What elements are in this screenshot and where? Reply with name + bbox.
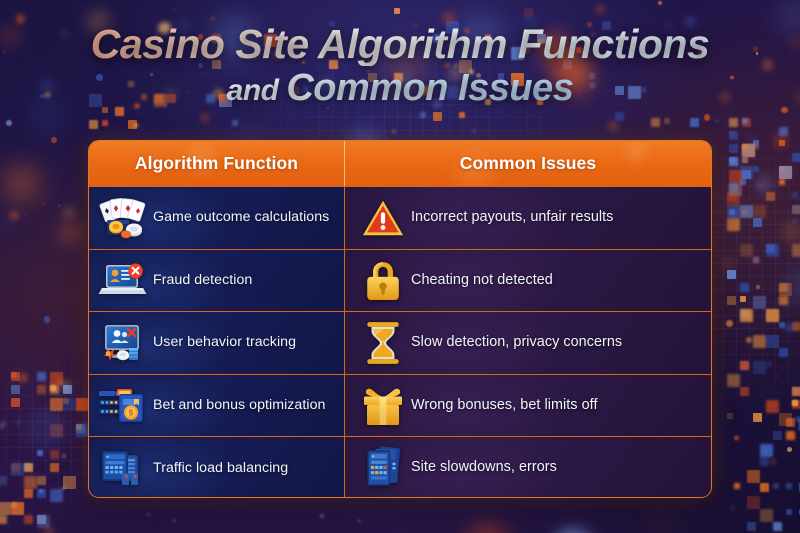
cell-common-issue: Slow detection, privacy concerns [345,312,711,374]
pixel-square [792,322,800,331]
pixel-square [50,489,63,502]
pixel-square [753,413,762,422]
pixel-square [760,483,769,492]
cell-common-issue: Wrong bonuses, bet limits off [345,375,711,437]
pixel-square [792,153,800,162]
pixel-square [779,283,788,292]
pixel-square [740,309,749,318]
pixel-square [786,418,795,427]
pixel-square [37,372,46,381]
pixel-square [63,398,69,404]
bokeh-dot [43,527,54,533]
pixel-square [729,144,738,153]
bokeh-dot [63,225,78,240]
bokeh-dot [6,120,13,127]
pixel-square [742,144,755,157]
bokeh-dot [146,512,151,517]
pixel-square [766,361,772,367]
bokeh-dot [42,202,45,205]
bokeh-dot [653,515,669,531]
pixel-square [50,385,56,391]
bokeh-dot [19,373,28,382]
pixel-square [742,209,748,215]
pixel-square [727,374,740,387]
title-line-1: Casino Site Algorithm Functions [0,24,800,66]
pixel-square [102,120,108,126]
pixel-square [779,296,788,305]
pixel-square [753,296,766,309]
bokeh-dot [787,447,792,452]
pixel-square [11,502,24,515]
pixel-square [740,283,749,292]
infographic-poster: Casino Site Algorithm Functions and Comm… [0,0,800,533]
pixel-square [651,118,660,127]
bokeh-dot [704,114,711,121]
common-issue-label: Cheating not detected [405,272,553,290]
pixel-square [747,470,760,483]
pixel-square [740,244,753,257]
pixel-square [0,476,7,485]
laptop-user-blocked-icon [97,257,149,303]
pixel-square [727,413,733,419]
pixel-square [76,424,85,433]
pixel-square [729,170,742,183]
pixel-square [740,205,753,218]
pixel-square [50,450,59,459]
pixel-square [63,398,76,411]
pixel-square [37,515,46,524]
bokeh-dot [1,421,6,426]
gift-box-icon [361,383,405,429]
pixel-square [729,131,738,140]
bokeh-dot [726,320,733,327]
bokeh-dot [786,225,800,239]
bokeh-dot [730,505,736,511]
pixel-square [792,387,800,396]
pixel-square [727,192,740,205]
bokeh-dot [50,417,64,431]
column-header-algorithm-function: Algorithm Function [89,141,345,186]
pixel-square [740,309,753,322]
comparison-table: Algorithm Function Common Issues Game ou… [88,140,712,498]
pixel-square [394,8,400,14]
bokeh-dot [738,207,741,210]
bokeh-dot [795,416,800,422]
pixel-square [433,112,442,121]
pixel-square [792,192,798,198]
poster-title: Casino Site Algorithm Functions and Comm… [0,24,800,108]
pixel-square [766,192,775,201]
pixel-square [24,463,33,472]
padlock-icon [361,257,405,303]
pixel-square [779,166,792,179]
bokeh-dot [596,5,605,14]
table-row: Game outcome calculations Incorrect payo… [89,186,711,249]
pixel-square [742,144,755,157]
table-row: Traffic load balancing Site slowdowns, e… [89,436,711,498]
pixel-square [459,112,465,118]
pixel-square [786,483,792,489]
pixel-square [740,361,749,370]
pixel-square [729,183,742,196]
bokeh-dot [211,16,216,21]
pixel-square [63,476,76,489]
pixel-square [76,424,85,433]
pixel-square [727,218,740,231]
pixel-square [420,112,426,118]
bokeh-dot [61,381,69,389]
pixel-square [779,322,785,328]
pixel-square [729,157,738,166]
pixel-square [734,483,740,489]
bokeh-dot [11,212,18,219]
pixel-square [729,131,735,137]
bokeh-dot [776,375,779,378]
pixel-square [753,140,759,146]
pixel-square [37,476,46,485]
pixel-square [753,205,766,218]
cell-common-issue: Site slowdowns, errors [345,437,711,498]
bokeh-dot [658,1,662,5]
pixel-square [792,205,800,214]
table-header-row: Algorithm Function Common Issues [89,141,711,186]
pixel-square [792,400,798,406]
pixel-square [786,431,795,440]
pixel-square [11,502,17,508]
pixel-square [747,496,760,509]
pixel-square [115,107,124,116]
pixel-square [747,522,756,531]
pixel-square [766,244,775,253]
pixel-square [11,463,20,472]
pixel-square [779,140,785,146]
pixel-square [740,166,753,179]
bokeh-dot [734,436,739,441]
algorithm-function-label: Traffic load balancing [149,460,288,477]
pixel-square [37,450,43,456]
pixel-square [50,385,56,391]
pixel-square [63,385,72,394]
pixel-square [753,166,759,172]
pixel-square [740,296,746,302]
pixel-square [740,361,749,370]
pixel-square [742,144,755,157]
pixel-square [760,509,773,522]
pixel-square [50,424,63,437]
pixel-square [773,483,779,489]
pixel-square [753,218,762,227]
bokeh-dot [392,129,397,134]
bokeh-dot [467,523,508,533]
bokeh-dot [25,214,27,216]
bokeh-dot [547,110,549,112]
pixel-square [742,170,751,179]
pixel-square [779,166,792,179]
cell-common-issue: Cheating not detected [345,250,711,312]
bokeh-dot [746,337,752,343]
pixel-square [615,112,624,121]
pixel-square [742,157,748,163]
table-row: $ Bet and bonus optimization Wrong bonus… [89,374,711,437]
pixel-square [779,413,792,426]
playing-cards-chips-icon [97,195,149,241]
pixel-square [742,144,751,153]
bokeh-dot [553,530,593,533]
pixel-square [11,385,20,394]
pixel-square [740,179,746,185]
pixel-square [729,183,738,192]
bokeh-dot [133,123,139,129]
bokeh-dot [776,136,786,146]
pixel-square [779,179,785,185]
bokeh-dot [39,489,43,493]
pixel-square [792,400,798,406]
algorithm-function-label: Game outcome calculations [149,209,329,226]
cell-algorithm-function: Game outcome calculations [89,187,345,249]
bokeh-dot [320,514,324,518]
bokeh-dot [7,169,36,198]
bokeh-dot [770,458,777,465]
pixel-square [792,244,800,257]
bokeh-dot [16,420,22,426]
pixel-square [727,205,740,218]
bokeh-dot [172,8,175,11]
pixel-square [11,398,20,407]
bokeh-dot [716,119,719,122]
pixel-square [740,309,749,318]
pixel-square [792,400,800,409]
pixel-square [779,296,788,305]
pixel-square [729,183,738,192]
pixel-square [11,372,20,381]
pixel-square [24,463,30,469]
cell-algorithm-function: User behavior tracking [89,312,345,374]
title-line-2: and Common Issues [0,69,800,108]
pixel-square [742,157,748,163]
pixel-square [766,244,779,257]
pixel-square [792,387,800,396]
algorithm-function-label: User behavior tracking [149,334,296,351]
bokeh-dot [755,146,759,150]
pixel-square [24,476,37,489]
bokeh-dot [62,454,66,458]
cell-algorithm-function: Traffic load balancing [89,437,345,498]
pixel-square [779,127,788,136]
bokeh-dot [44,316,50,322]
pixel-square [729,118,738,127]
bokeh-dot [471,128,477,134]
bokeh-dot [58,204,61,207]
pixel-square [779,283,792,296]
pixel-square [773,522,782,531]
svg-text:$: $ [129,408,134,417]
monitor-users-blocked-icon [97,320,149,366]
pixel-square [753,257,759,263]
pixel-square [89,120,98,129]
pixel-square [115,107,124,116]
bokeh-dot [785,323,794,332]
pixel-square [766,400,779,413]
pixel-square [753,335,766,348]
pixel-square [729,222,738,231]
pixel-square [742,144,748,150]
bokeh-dot [16,14,26,24]
pixel-square [792,218,798,224]
title-conjunction: and [227,74,287,107]
pixel-square [50,372,63,385]
pixel-square [50,385,59,394]
pixel-square [729,209,735,215]
pixel-square [740,387,749,396]
warning-triangle-icon [361,195,405,241]
pixel-square [727,296,736,305]
hourglass-icon [361,320,405,366]
table-row: User behavior tracking Slow detection, p… [89,311,711,374]
bokeh-dot [65,208,73,216]
pixel-square [0,502,11,515]
pixel-square [37,385,46,394]
pixel-square [37,489,46,498]
pixel-square [727,192,736,201]
column-header-common-issues: Common Issues [345,141,711,186]
algorithm-function-label: Fraud detection [149,272,252,289]
bokeh-dot [3,218,12,227]
bokeh-dot [201,114,209,122]
pixel-square [50,463,59,472]
table-row: Fraud detection Cheating not detected [89,249,711,312]
bokeh-dot [723,256,735,268]
bokeh-dot [796,260,800,301]
pixel-square [727,270,736,279]
pixel-square [753,361,766,374]
algorithm-function-label: Bet and bonus optimization [149,397,325,414]
pixel-square [760,457,769,466]
common-issue-label: Slow detection, privacy concerns [405,334,622,352]
pixel-square [729,183,742,196]
pixel-square [0,424,4,430]
pixel-square [232,120,238,126]
bokeh-dot [747,136,755,144]
pixel-square [729,157,735,163]
bokeh-dot [51,137,57,143]
pixel-square [766,335,779,348]
pixel-square [37,515,46,524]
bokeh-dot [62,487,65,490]
pixel-square [102,107,108,113]
cell-algorithm-function: Fraud detection [89,250,345,312]
bokeh-dot [173,519,177,523]
title-line-2-main: Common Issues [286,67,573,109]
pixel-square [690,118,699,127]
bokeh-dot [758,178,770,190]
pixel-square [773,431,782,440]
bokeh-dot [609,122,617,130]
pixel-square [779,166,785,172]
server-rack-icon [97,445,149,491]
cell-common-issue: Incorrect payouts, unfair results [345,187,711,249]
pixel-square [755,183,761,189]
bokeh-dot [14,375,22,383]
bokeh-dot [756,285,760,289]
pixel-square [24,515,33,524]
pixel-square [729,209,738,218]
bokeh-dot [357,519,361,523]
pixel-square [0,515,7,524]
pixel-square [664,118,670,124]
bokeh-dot [781,107,788,114]
pixel-square [779,348,788,357]
pixel-square [37,515,50,528]
pixel-square [753,257,759,263]
pixel-square [11,463,24,476]
table-body: Game outcome calculations Incorrect payo… [89,186,711,498]
pixel-square [524,8,533,17]
pixel-square [766,309,779,322]
pixel-square [76,424,82,430]
pixel-square [11,372,17,378]
common-issue-label: Incorrect payouts, unfair results [405,209,613,227]
pixel-square [50,398,63,411]
bokeh-dot [23,407,64,448]
pixel-square [742,118,751,127]
pixel-square [760,444,773,457]
pixel-square [128,120,137,129]
pixel-square [742,118,748,124]
bokeh-dot [14,384,31,401]
cell-algorithm-function: $ Bet and bonus optimization [89,375,345,437]
common-issue-label: Wrong bonuses, bet limits off [405,397,598,415]
pixel-square [786,509,792,515]
pixel-square [24,489,33,498]
common-issue-label: Site slowdowns, errors [405,459,557,477]
pixel-square [729,157,742,170]
server-documents-icon [361,445,405,491]
pixel-square [792,205,800,214]
bokeh-dot [792,282,800,296]
pixel-square [766,309,779,322]
bet-slip-coin-icon: $ [97,383,149,429]
bokeh-dot [14,481,16,483]
